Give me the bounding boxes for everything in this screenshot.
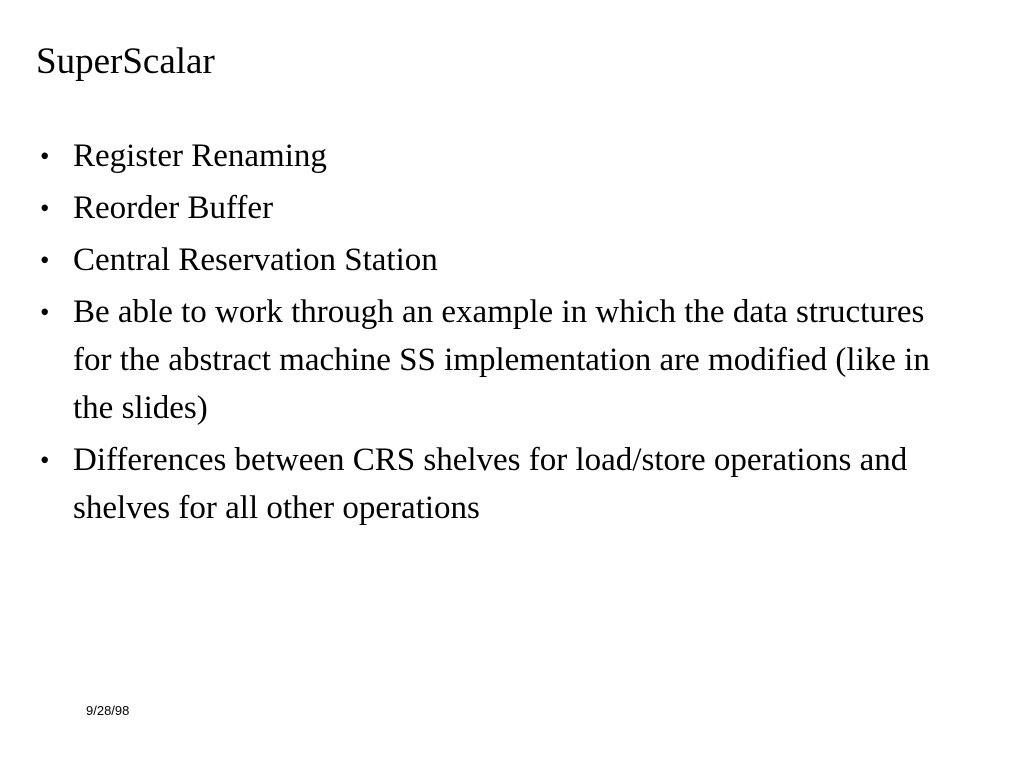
list-item: • Reorder Buffer [36,184,966,232]
bullet-point-icon: • [40,132,60,180]
presentation-slide: SuperScalar • Register Renaming • Reorde… [0,0,1024,768]
list-item: • Central Reservation Station [36,236,966,284]
bullet-text: Reorder Buffer [73,184,966,232]
bullet-text: Register Renaming [73,132,966,180]
slide-date-footer: 9/28/98 [86,703,129,719]
slide-title: SuperScalar [36,40,986,84]
list-item: • Differences between CRS shelves for lo… [36,436,966,532]
list-item: • Be able to work through an example in … [36,288,966,432]
bullet-text: Be able to work through an example in wh… [73,288,966,432]
bullet-text: Differences between CRS shelves for load… [73,436,966,532]
bullet-point-icon: • [40,236,60,284]
bullet-point-icon: • [40,436,60,484]
bullet-point-icon: • [40,288,60,336]
slide-bullet-list: • Register Renaming • Reorder Buffer • C… [36,132,966,536]
list-item: • Register Renaming [36,132,966,180]
bullet-point-icon: • [40,184,60,232]
bullet-text: Central Reservation Station [73,236,966,284]
